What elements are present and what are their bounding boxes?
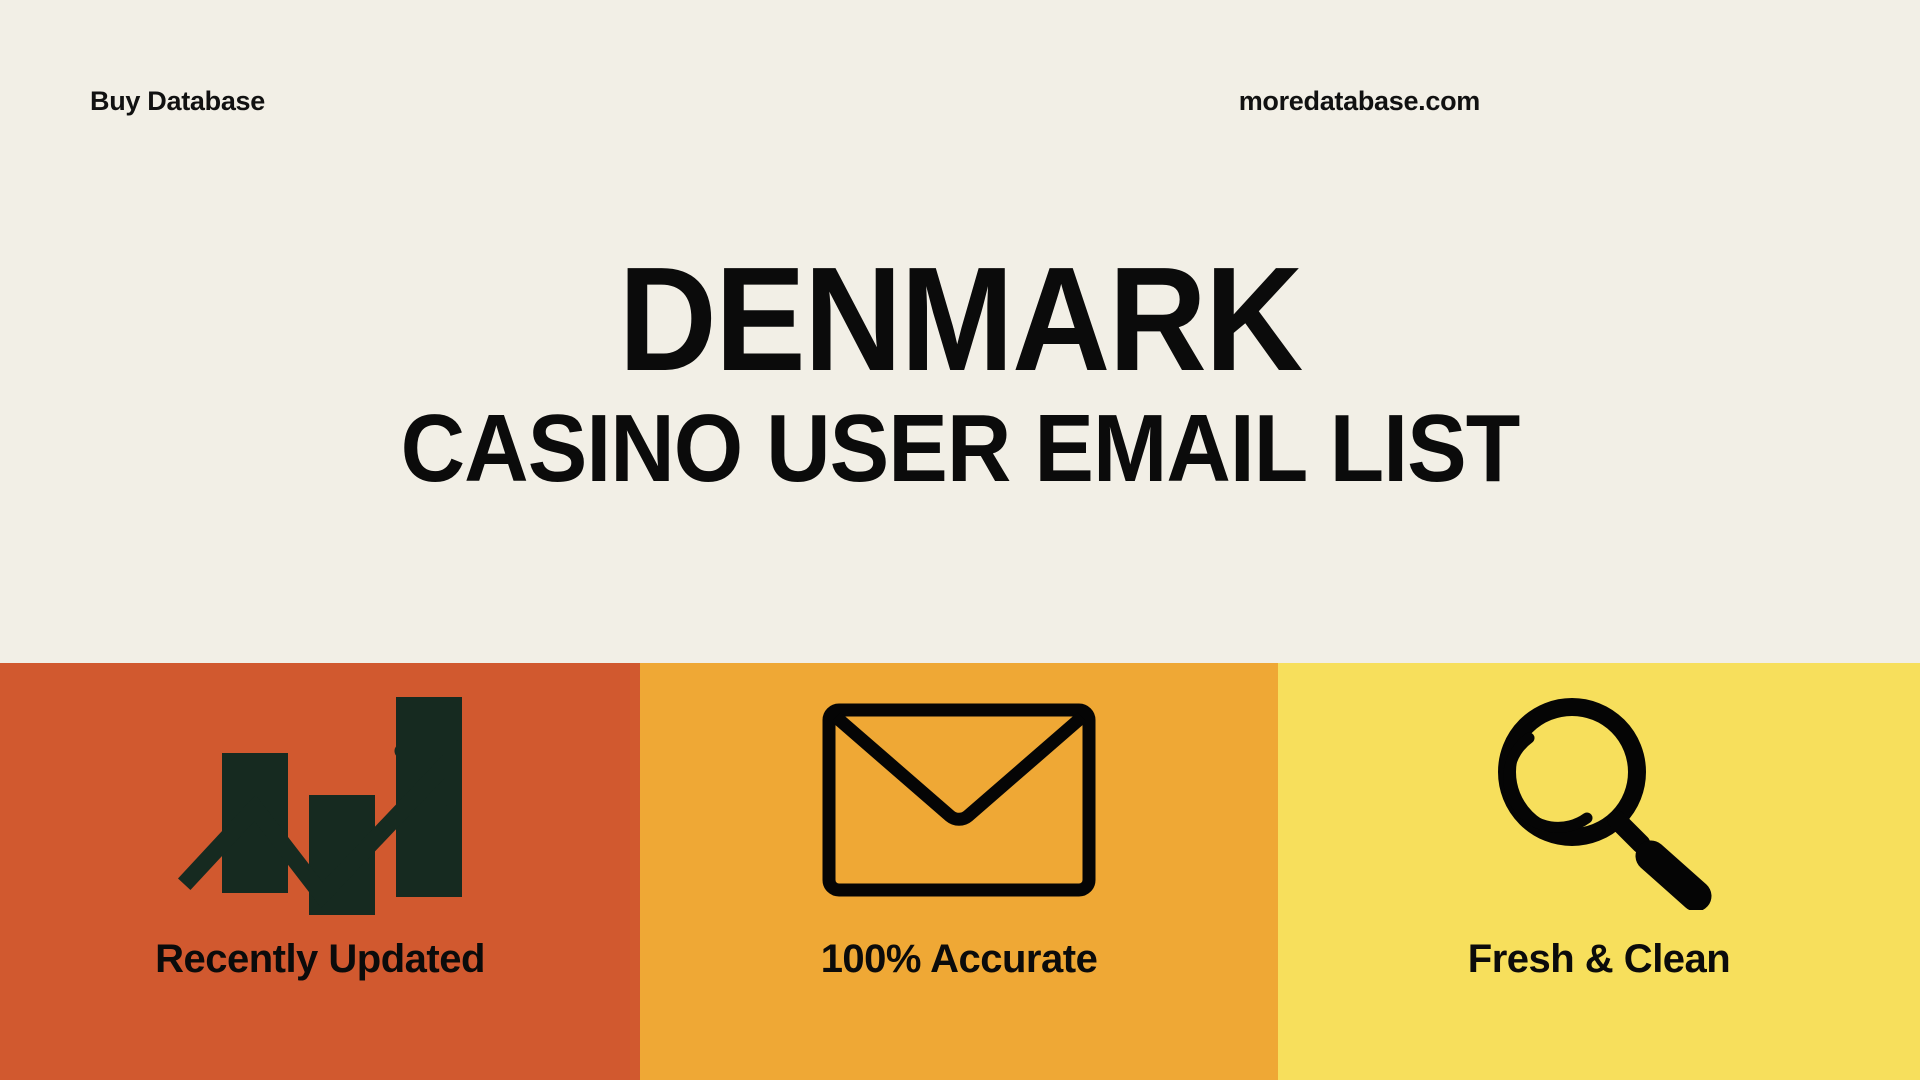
brand-right-website: moredatabase.com: [1239, 86, 1480, 117]
page-title: DENMARK: [77, 255, 1843, 385]
feature-panel-accurate: 100% Accurate: [640, 663, 1278, 1080]
magnifier-icon: [1484, 675, 1714, 925]
feature-label-fresh-clean: Fresh & Clean: [1468, 937, 1730, 982]
feature-label-recently-updated: Recently Updated: [155, 937, 485, 982]
envelope-icon: [819, 675, 1099, 925]
poster-canvas: Buy Database moredatabase.com DENMARK CA…: [0, 0, 1920, 1080]
title-block: DENMARK CASINO USER EMAIL LIST: [0, 255, 1920, 494]
feature-panel-strip: Recently Updated 100% Accurate: [0, 663, 1920, 1080]
page-subtitle: CASINO USER EMAIL LIST: [67, 403, 1853, 494]
bar-chart-growth-icon: [170, 675, 470, 925]
brand-left-label: Buy Database: [90, 86, 265, 117]
feature-panel-recently-updated: Recently Updated: [0, 663, 640, 1080]
feature-label-accurate: 100% Accurate: [821, 937, 1098, 982]
poster-header: Buy Database moredatabase.com: [0, 0, 1920, 200]
feature-panel-fresh-clean: Fresh & Clean: [1278, 663, 1920, 1080]
